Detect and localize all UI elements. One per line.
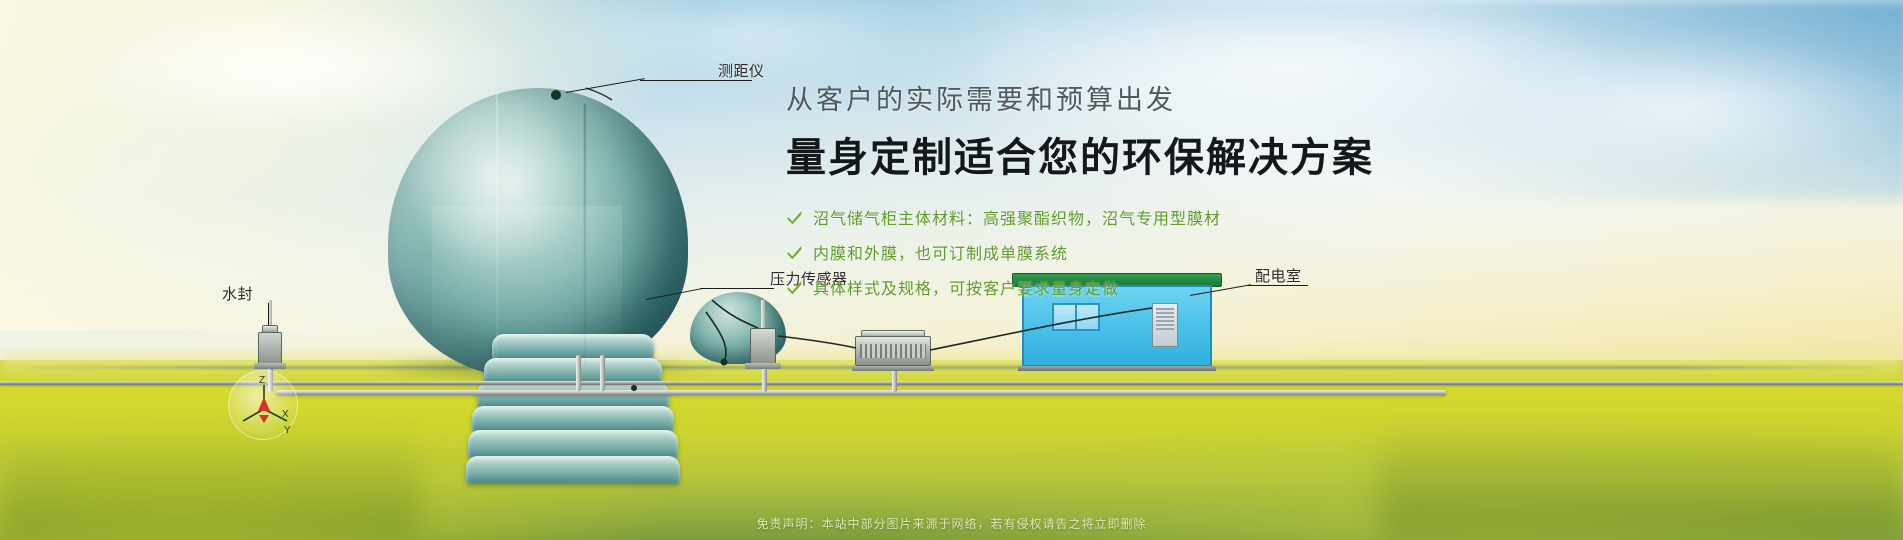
membrane-ridge (492, 334, 654, 360)
blower-base (852, 366, 934, 371)
bullet-item: 具体样式及规格，可按客户要求量身定做 (786, 275, 1486, 299)
membrane-ridge (472, 406, 674, 432)
bullet-item: 内膜和外膜，也可订制成单膜系统 (786, 240, 1486, 264)
pressure-sensor-stem (761, 300, 765, 330)
copy-headline: 量身定制适合您的环保解决方案 (786, 125, 1486, 183)
pipe-riser-b (600, 355, 605, 391)
gas-holder-dome (388, 88, 688, 378)
marketing-copy: 从客户的实际需要和预算出发 量身定制适合您的环保解决方案 沼气储气柜主体材料：高… (786, 78, 1486, 310)
check-icon (786, 209, 803, 226)
bullet-text: 具体样式及规格，可按客户要求量身定做 (813, 275, 1119, 299)
dome-inner-membrane (432, 206, 622, 366)
membrane-ridge (477, 382, 669, 408)
bullet-text: 沼气储气柜主体材料：高强聚酯织物，沼气专用型膜材 (813, 205, 1221, 229)
blower-grill (860, 344, 926, 358)
label-rangefinder: 测距仪 (718, 60, 765, 81)
check-icon (786, 244, 803, 261)
axis-label-z: Z (259, 375, 265, 386)
axis-label-y: Y (284, 425, 291, 436)
water-seal-base (254, 363, 286, 369)
dome-seam-right (584, 104, 586, 364)
bullet-text: 内膜和外膜，也可订制成单膜系统 (813, 240, 1068, 264)
power-room-control-panel (1156, 308, 1174, 330)
pressure-sensor-body (750, 328, 776, 364)
power-room-base (1018, 366, 1216, 371)
copy-subtitle: 从客户的实际需要和预算出发 (786, 78, 1486, 117)
label-water-seal: 水封 (222, 283, 253, 304)
check-icon (786, 279, 803, 296)
axis-gizmo: Z X Y (228, 370, 298, 440)
axis-label-x: X (282, 409, 289, 420)
hero-banner: Z X Y 测距仪 水封 压力传感器 配电室 从客户的实际需要和预算出发 量身定… (0, 0, 1903, 540)
secondary-pipe (276, 390, 1446, 395)
leader-pressure-sensor-h (700, 288, 774, 289)
water-seal-body (258, 332, 282, 364)
dome-seam-left (496, 92, 498, 372)
membrane-ridge (468, 430, 678, 458)
leader-rangefinder-h (640, 80, 752, 81)
bullet-item: 沼气储气柜主体材料：高强聚酯织物，沼气专用型膜材 (786, 205, 1486, 229)
membrane-ridge (466, 456, 680, 484)
leader-water-seal (268, 303, 269, 325)
pipe-riser-a (576, 355, 581, 391)
pressure-sensor-base (745, 363, 781, 369)
copy-bullet-list: 沼气储气柜主体材料：高强聚酯织物，沼气专用型膜材 内膜和外膜，也可订制成单膜系统… (786, 205, 1486, 299)
disclaimer-text: 免责声明：本站中部分图片来源于网络，若有侵权请告之将立即删除 (0, 515, 1903, 532)
